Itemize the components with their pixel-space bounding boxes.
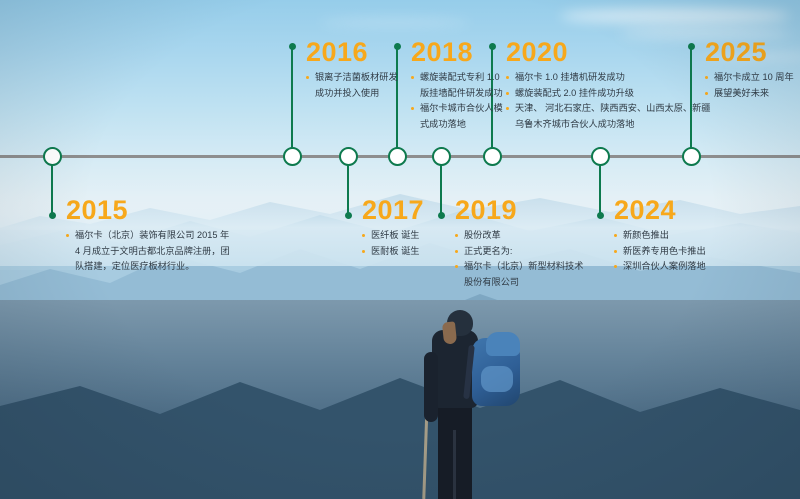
timeline-node-2015[interactable] [43, 147, 62, 166]
milestone-bullet: 福尔卡 1.0 挂墙机研发成功 [506, 71, 711, 85]
milestone-bullet-list: 福尔卡成立 10 周年展望美好未来 [705, 71, 794, 100]
milestone-bullet: 医耐板 诞生 [362, 245, 424, 259]
milestone-bullet: 深圳合伙人案例落地 [614, 260, 706, 274]
milestone-2019: 2019股份改革正式更名为:福尔卡（北京）新型材料技术股份有限公司 [455, 196, 583, 291]
milestone-bullet-list: 螺旋装配式专利 1.0版挂墙配件研发成功福尔卡城市合伙人模式成功落地 [411, 71, 503, 131]
milestone-bullet: 版挂墙配件研发成功 [411, 87, 503, 101]
milestone-bullet: 正式更名为: [455, 245, 583, 259]
timeline-node-2025[interactable] [682, 147, 701, 166]
milestone-bullet: 乌鲁木齐城市合伙人成功落地 [506, 118, 711, 132]
timeline-node-2017[interactable] [339, 147, 358, 166]
milestone-year-label: 2015 [66, 196, 230, 225]
milestone-year-label: 2016 [306, 38, 398, 67]
milestone-bullet: 福尔卡（北京）新型材料技术 [455, 260, 583, 274]
milestone-bullet-list: 福尔卡 1.0 挂墙机研发成功螺旋装配式 2.0 挂件成功升级天津、 河北石家庄… [506, 71, 711, 131]
timeline-stem-2019 [440, 163, 443, 216]
milestone-bullet: 股份改革 [455, 229, 583, 243]
milestone-year-label: 2020 [506, 38, 711, 67]
milestone-bullet: 队搭建，定位医疗板材行业。 [66, 260, 230, 274]
timeline-node-2019[interactable] [432, 147, 451, 166]
milestone-2018: 2018螺旋装配式专利 1.0版挂墙配件研发成功福尔卡城市合伙人模式成功落地 [411, 38, 503, 133]
hiker-backpack-highlight [481, 366, 513, 392]
milestone-bullet: 式成功落地 [411, 118, 503, 132]
timeline-node-2016[interactable] [283, 147, 302, 166]
milestone-bullet: 展望美好未来 [705, 87, 794, 101]
milestone-bullet: 福尔卡（北京）装饰有限公司 2015 年 [66, 229, 230, 243]
timeline-stem-2016 [291, 46, 294, 155]
milestone-year-label: 2019 [455, 196, 583, 225]
milestone-year-label: 2018 [411, 38, 503, 67]
milestone-bullet: 医纤板 诞生 [362, 229, 424, 243]
milestone-bullet: 螺旋装配式 2.0 挂件成功升级 [506, 87, 711, 101]
timeline-stem-2017 [347, 163, 350, 216]
milestone-bullet: 银离子洁菌板材研发 [306, 71, 398, 85]
timeline-node-2020[interactable] [483, 147, 502, 166]
milestone-2016: 2016银离子洁菌板材研发成功并投入使用 [306, 38, 398, 102]
milestone-bullet-list: 新颜色推出新医养专用色卡推出深圳合伙人案例落地 [614, 229, 706, 274]
milestone-bullet: 股份有限公司 [455, 276, 583, 290]
timeline-stem-tip [289, 43, 296, 50]
milestone-bullet-list: 银离子洁菌板材研发成功并投入使用 [306, 71, 398, 100]
mountain-ridge-foreground [0, 360, 800, 499]
milestone-bullet: 成功并投入使用 [306, 87, 398, 101]
timeline-stem-tip [438, 212, 445, 219]
timeline-stem-tip [597, 212, 604, 219]
milestone-2025: 2025福尔卡成立 10 周年展望美好未来 [705, 38, 794, 102]
milestone-2017: 2017医纤板 诞生医耐板 诞生 [362, 196, 424, 260]
cloud [560, 8, 790, 24]
milestone-bullet: 福尔卡成立 10 周年 [705, 71, 794, 85]
milestone-year-label: 2024 [614, 196, 706, 225]
hiker-arm [424, 352, 438, 422]
milestone-bullet: 天津、 河北石家庄、陕西西安、山西太原、新疆 [506, 102, 711, 116]
milestone-bullet-list: 医纤板 诞生医耐板 诞生 [362, 229, 424, 258]
milestone-bullet: 新颜色推出 [614, 229, 706, 243]
timeline-stem-tip [345, 212, 352, 219]
milestone-bullet: 福尔卡城市合伙人模 [411, 102, 503, 116]
milestone-bullet-list: 福尔卡（北京）装饰有限公司 2015 年4 月成立于文明古都北京品牌注册，团队搭… [66, 229, 230, 274]
timeline-stem-2024 [599, 163, 602, 216]
milestone-2024: 2024新颜色推出新医养专用色卡推出深圳合伙人案例落地 [614, 196, 706, 276]
milestone-bullet: 4 月成立于文明古都北京品牌注册，团 [66, 245, 230, 259]
milestone-year-label: 2025 [705, 38, 794, 67]
timeline-stem-tip [49, 212, 56, 219]
milestone-bullet-list: 股份改革正式更名为:福尔卡（北京）新型材料技术股份有限公司 [455, 229, 583, 289]
hiker-backpack-top [486, 332, 520, 356]
timeline-node-2018[interactable] [388, 147, 407, 166]
timeline-infographic: 2015福尔卡（北京）装饰有限公司 2015 年4 月成立于文明古都北京品牌注册… [0, 0, 800, 499]
hiker-leg-gap [453, 430, 456, 499]
timeline-stem-2015 [51, 163, 54, 216]
cloud [320, 18, 470, 27]
hiker-hair [442, 321, 457, 344]
milestone-bullet: 螺旋装配式专利 1.0 [411, 71, 503, 85]
milestone-2020: 2020福尔卡 1.0 挂墙机研发成功螺旋装配式 2.0 挂件成功升级天津、 河… [506, 38, 711, 133]
milestone-year-label: 2017 [362, 196, 424, 225]
milestone-bullet: 新医养专用色卡推出 [614, 245, 706, 259]
timeline-node-2024[interactable] [591, 147, 610, 166]
milestone-2015: 2015福尔卡（北京）装饰有限公司 2015 年4 月成立于文明古都北京品牌注册… [66, 196, 230, 276]
